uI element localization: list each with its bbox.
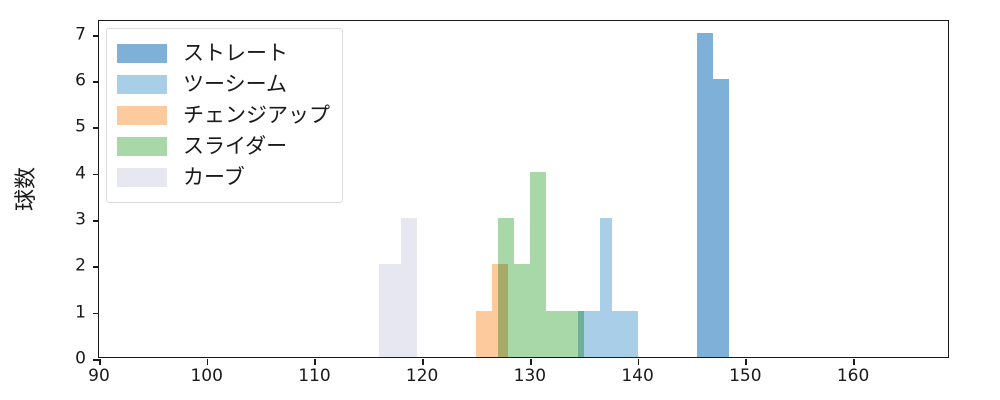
x-tick-label: 120 (406, 368, 438, 385)
histogram-bar (498, 218, 514, 357)
x-tick-mark (530, 359, 532, 365)
y-tick-label: 3 (75, 212, 86, 229)
histogram-bar (476, 311, 492, 357)
histogram-bar (379, 264, 401, 357)
histogram-bar (562, 311, 584, 357)
x-tick-mark (638, 359, 640, 365)
y-tick-mark (93, 220, 99, 222)
y-tick-mark (93, 127, 99, 129)
legend-item-0[interactable]: ストレート (117, 38, 330, 69)
legend-color-swatch (117, 168, 167, 187)
histogram-bar (713, 79, 729, 357)
y-tick-mark (93, 313, 99, 315)
y-tick-label: 0 (75, 351, 86, 368)
histogram-bar (546, 311, 562, 357)
legend: ストレートツーシームチェンジアップスライダーカーブ (106, 28, 343, 203)
x-tick-mark (745, 359, 747, 365)
y-tick-label: 7 (75, 26, 86, 43)
x-tick-label: 150 (729, 368, 761, 385)
x-tick-mark (422, 359, 424, 365)
y-tick-label: 2 (75, 258, 86, 275)
legend-item-label: ツーシーム (183, 74, 287, 95)
y-tick-mark (93, 174, 99, 176)
y-tick-mark (93, 359, 99, 361)
pitch-velocity-histogram-figure: 球数 90100110120130140150160 01234567 ストレー… (0, 0, 1000, 400)
histogram-bar (697, 33, 713, 357)
y-tick-label: 4 (75, 165, 86, 182)
x-tick-mark (853, 359, 855, 365)
y-tick-mark (93, 81, 99, 83)
x-tick-mark (99, 359, 101, 365)
legend-item-label: カーブ (183, 167, 245, 188)
x-tick-label: 100 (190, 368, 222, 385)
y-tick-label: 6 (75, 73, 86, 90)
legend-color-swatch (117, 75, 167, 94)
x-tick-label: 90 (88, 368, 110, 385)
x-tick-label: 130 (514, 368, 546, 385)
histogram-bar (514, 264, 530, 357)
y-axis-title: 球数 (8, 167, 40, 211)
legend-item-label: チェンジアップ (183, 105, 330, 126)
legend-item-3[interactable]: スライダー (117, 131, 330, 162)
legend-color-swatch (117, 44, 167, 63)
x-tick-mark (207, 359, 209, 365)
histogram-bar (530, 172, 546, 357)
histogram-bar (612, 311, 638, 357)
x-tick-label: 110 (298, 368, 330, 385)
legend-color-swatch (117, 106, 167, 125)
histogram-bar (401, 218, 417, 357)
y-tick-mark (93, 35, 99, 37)
legend-color-swatch (117, 137, 167, 156)
y-tick-label: 1 (75, 304, 86, 321)
x-tick-mark (314, 359, 316, 365)
x-tick-label: 140 (621, 368, 653, 385)
legend-item-4[interactable]: カーブ (117, 162, 330, 193)
legend-item-2[interactable]: チェンジアップ (117, 100, 330, 131)
y-tick-mark (93, 266, 99, 268)
histogram-bar (600, 218, 612, 357)
y-tick-label: 5 (75, 119, 86, 136)
legend-item-label: ストレート (183, 43, 288, 64)
x-tick-label: 160 (837, 368, 869, 385)
legend-item-1[interactable]: ツーシーム (117, 69, 330, 100)
legend-item-label: スライダー (183, 136, 287, 157)
